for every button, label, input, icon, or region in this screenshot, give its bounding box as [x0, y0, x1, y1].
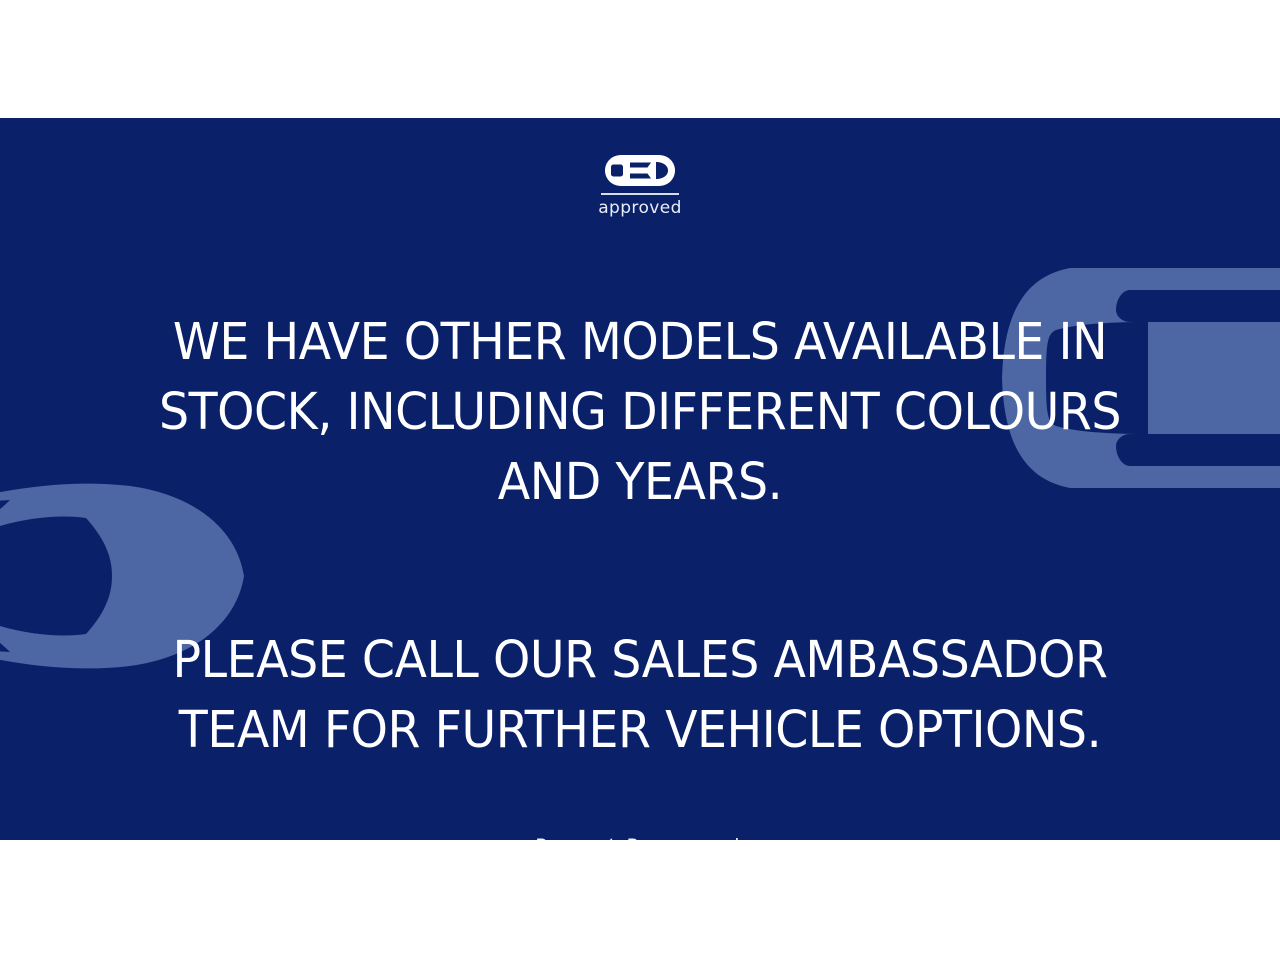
logo-divider	[601, 193, 679, 195]
headline-primary: WE HAVE OTHER MODELS AVAILABLE IN STOCK,…	[101, 308, 1180, 518]
brand-logo: approved	[0, 154, 1280, 218]
logo-wordmark: approved	[0, 198, 1280, 218]
promo-band: approved WE HAVE OTHER MODELS AVAILABLE …	[0, 118, 1280, 840]
headline-secondary: PLEASE CALL OUR SALES AMBASSADOR TEAM FO…	[101, 626, 1180, 766]
car-top-view-icon	[604, 154, 676, 187]
promo-copy: WE HAVE OTHER MODELS AVAILABLE IN STOCK,…	[60, 308, 1220, 840]
tagline: Be smart. Be approved.	[89, 834, 1191, 840]
banner-root: approved WE HAVE OTHER MODELS AVAILABLE …	[0, 0, 1280, 960]
